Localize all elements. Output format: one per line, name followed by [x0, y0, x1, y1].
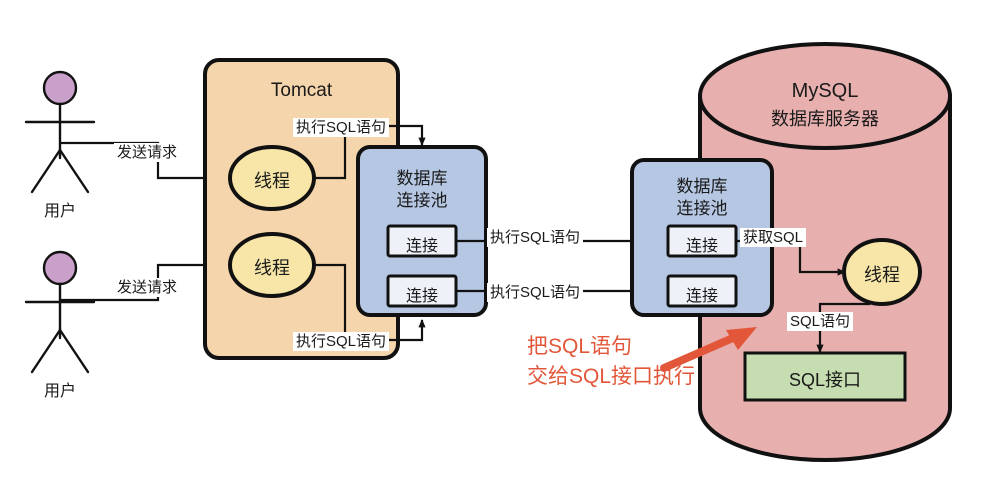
pool-db-connection-2-label: 连接 — [668, 282, 736, 306]
actor-user-bottom — [26, 252, 94, 372]
actor-user-top-label: 用户 — [28, 197, 92, 221]
edge-request-top-label: 发送请求 — [114, 143, 180, 162]
actor-user-top — [26, 72, 94, 192]
tomcat-title: Tomcat — [205, 80, 398, 102]
mysql-title-line1: MySQL — [700, 80, 950, 103]
sql-interface-label: SQL接口 — [745, 366, 905, 392]
pool-app-connection-1-label: 连接 — [388, 232, 456, 256]
mysql-thread-label: 线程 — [840, 261, 924, 287]
pool-app-title-line2: 连接池 — [358, 186, 486, 211]
actor-user-bottom-label: 用户 — [28, 377, 92, 401]
pool-db-connection-1-label: 连接 — [668, 232, 736, 256]
pool-db-title-line2: 连接池 — [632, 194, 772, 219]
edge-exec-sql-mid-bottom-label: 执行SQL语句 — [487, 283, 583, 302]
annotation-line2: 交给SQL接口执行 — [527, 364, 695, 390]
annotation-line1: 把SQL语句 — [527, 334, 632, 360]
edge-exec-sql-bottom-label: 执行SQL语句 — [293, 332, 389, 351]
mysql-title-line2: 数据库服务器 — [700, 105, 950, 131]
diagram-canvas: 用户 发送请求 用户 发送请求 Tomcat 线程 线程 执行SQL语句 执行S… — [0, 0, 1000, 491]
edge-exec-sql-top-label: 执行SQL语句 — [293, 118, 389, 137]
edge-exec-sql-mid-top-label: 执行SQL语句 — [487, 228, 583, 247]
tomcat-thread-bottom-label: 线程 — [230, 254, 314, 280]
edge-fetch-sql-label: 获取SQL — [740, 228, 806, 247]
edge-request-bottom-label: 发送请求 — [114, 278, 180, 297]
tomcat-thread-top-label: 线程 — [230, 167, 314, 193]
edge-sql-statement-label: SQL语句 — [787, 312, 853, 331]
pool-app-connection-2-label: 连接 — [388, 282, 456, 306]
